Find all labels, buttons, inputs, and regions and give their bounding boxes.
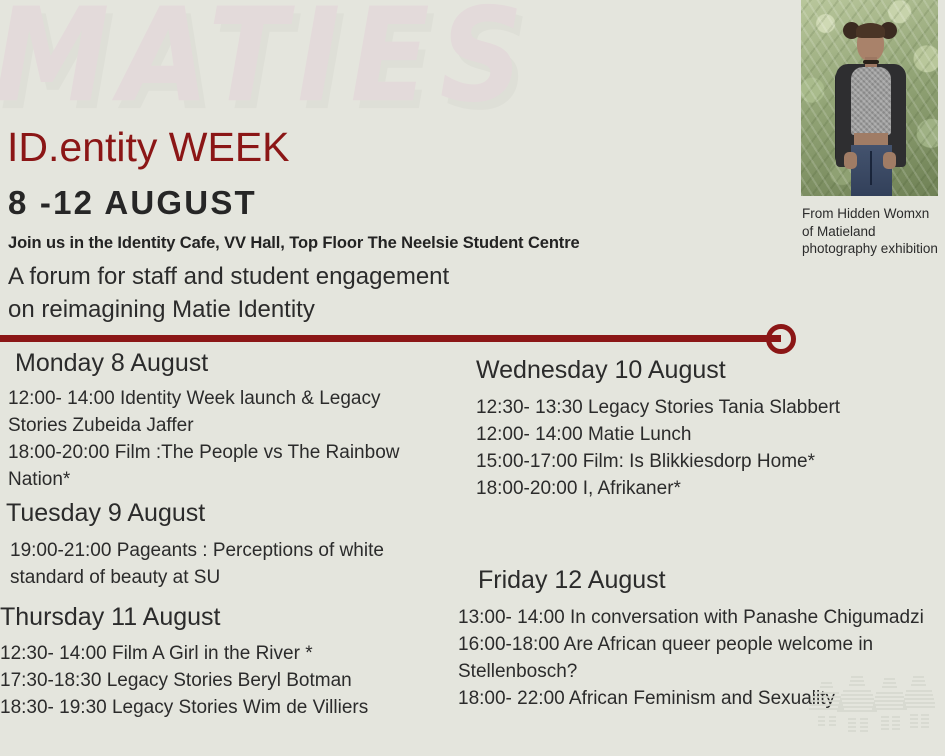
schedule-line: 12:00- 14:00 Matie Lunch bbox=[476, 421, 945, 448]
schedule-line: 12:00- 14:00 Identity Week launch & Lega… bbox=[8, 385, 450, 412]
schedule-line: 12:30- 13:30 Legacy Stories Tania Slabbe… bbox=[476, 394, 945, 421]
maties-wordmark-watermark: MATIES bbox=[0, 0, 714, 127]
day-item-list: 12:30- 13:30 Legacy Stories Tania Slabbe… bbox=[476, 394, 945, 502]
photo-block: From Hidden Womxn of Matieland photograp… bbox=[801, 0, 938, 258]
photo-hand-left bbox=[844, 152, 857, 169]
day-block-friday: Friday 12 August 13:00- 14:00 In convers… bbox=[455, 565, 945, 712]
divider-rule bbox=[0, 335, 781, 342]
schedule-line: Stellenbosch? bbox=[458, 658, 945, 685]
schedule-line: standard of beauty at SU bbox=[10, 564, 450, 591]
day-block-monday: Monday 8 August 12:00- 14:00 Identity We… bbox=[0, 348, 450, 493]
venue-line: Join us in the Identity Cafe, VV Hall, T… bbox=[8, 234, 580, 253]
photo-caption: From Hidden Womxn of Matieland photograp… bbox=[801, 205, 938, 258]
page-title: ID.entity WEEK bbox=[7, 126, 290, 169]
schedule-line: Nation* bbox=[8, 466, 450, 493]
schedule-line: 18:00- 22:00 African Feminism and Sexual… bbox=[458, 685, 945, 712]
photo-hair bbox=[856, 23, 885, 38]
schedule-line: 12:30- 14:00 Film A Girl in the River * bbox=[0, 640, 450, 667]
schedule-line: 18:00-20:00 I, Afrikaner* bbox=[476, 475, 945, 502]
schedule-line: 19:00-21:00 Pageants : Perceptions of wh… bbox=[10, 537, 450, 564]
day-item-list: 19:00-21:00 Pageants : Perceptions of wh… bbox=[10, 537, 450, 591]
day-item-list: 12:00- 14:00 Identity Week launch & Lega… bbox=[8, 385, 450, 493]
day-block-thursday: Thursday 11 August 12:30- 14:00 Film A G… bbox=[0, 602, 450, 721]
day-item-list: 13:00- 14:00 In conversation with Panash… bbox=[458, 604, 945, 712]
schedule-line: 18:30- 19:30 Legacy Stories Wim de Villi… bbox=[0, 694, 450, 721]
day-block-wednesday: Wednesday 10 August 12:30- 13:30 Legacy … bbox=[455, 355, 945, 502]
day-block-tuesday: Tuesday 9 August 19:00-21:00 Pageants : … bbox=[0, 498, 450, 591]
schedule-line: 15:00-17:00 Film: Is Blikkiesdorp Home* bbox=[476, 448, 945, 475]
schedule-line: Stories Zubeida Jaffer bbox=[8, 412, 450, 439]
day-heading: Wednesday 10 August bbox=[476, 355, 945, 386]
schedule-line: 13:00- 14:00 In conversation with Panash… bbox=[458, 604, 945, 631]
photo-choker bbox=[863, 60, 879, 64]
day-heading: Tuesday 9 August bbox=[6, 498, 450, 529]
blurb-line-1: A forum for staff and student engagement bbox=[8, 260, 449, 293]
schedule-line: 16:00-18:00 Are African queer people wel… bbox=[458, 631, 945, 658]
schedule-column-left: Monday 8 August 12:00- 14:00 Identity We… bbox=[0, 348, 450, 721]
divider-ring-icon bbox=[766, 324, 796, 354]
event-blurb: A forum for staff and student engagement… bbox=[8, 260, 449, 326]
blurb-line-2: on reimagining Matie Identity bbox=[8, 293, 449, 326]
poster-canvas: MATIES ID.entity WEEK 8 -12 AUGUST Join … bbox=[0, 0, 945, 756]
schedule-line: 17:30-18:30 Legacy Stories Beryl Botman bbox=[0, 667, 450, 694]
photo-sweater bbox=[851, 67, 891, 135]
photo-hand-right bbox=[883, 152, 896, 169]
day-heading: Friday 12 August bbox=[478, 565, 945, 596]
day-item-list: 12:30- 14:00 Film A Girl in the River * … bbox=[0, 640, 450, 721]
day-heading: Thursday 11 August bbox=[0, 602, 450, 633]
day-heading: Monday 8 August bbox=[15, 348, 450, 379]
exhibition-photo bbox=[801, 0, 938, 196]
event-dates: 8 -12 AUGUST bbox=[8, 184, 257, 222]
schedule-column-right: Wednesday 10 August 12:30- 13:30 Legacy … bbox=[455, 355, 945, 712]
schedule-line: 18:00-20:00 Film :The People vs The Rain… bbox=[8, 439, 450, 466]
